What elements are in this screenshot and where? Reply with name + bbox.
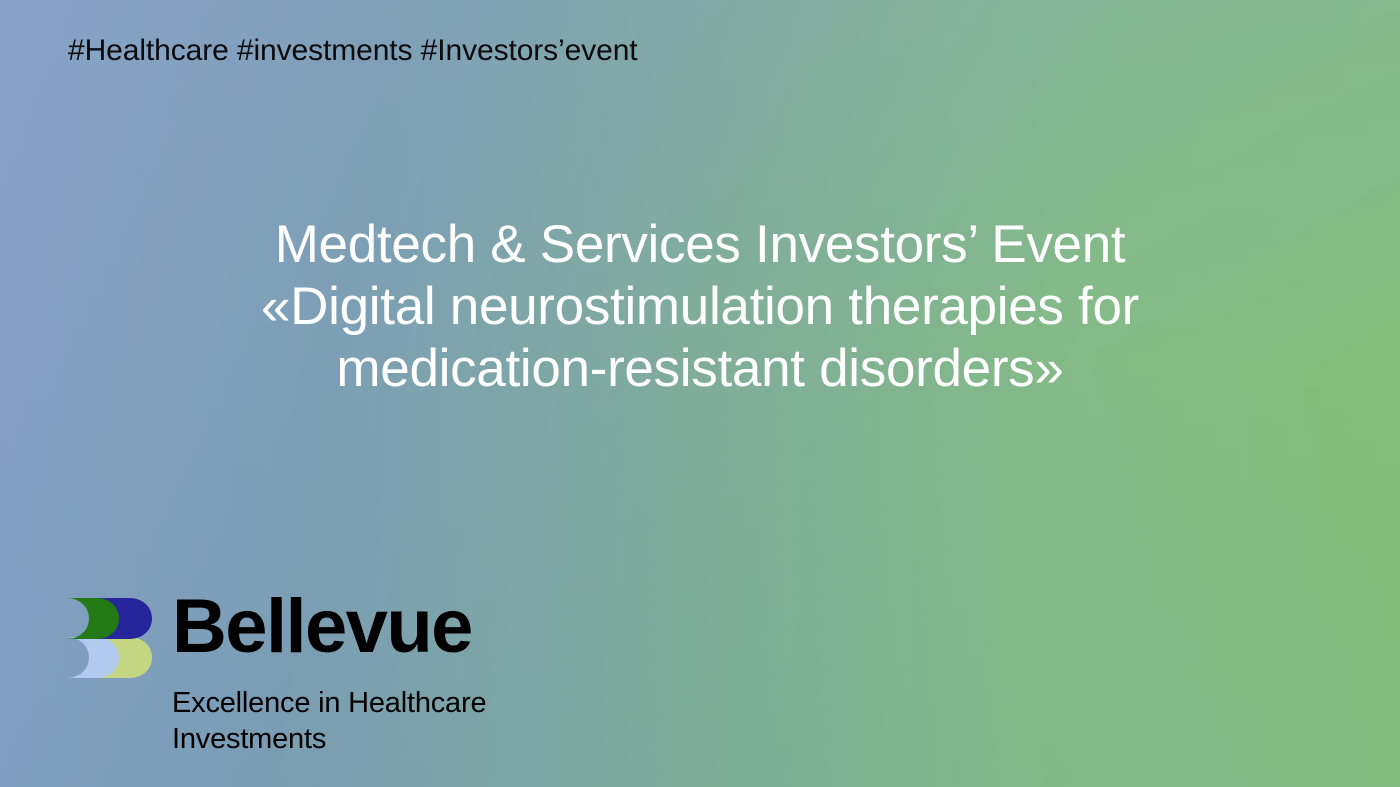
leaf-top-right-icon <box>96 598 152 639</box>
hashtag-line: #Healthcare #investments #Investors’even… <box>68 33 638 69</box>
logo-wordmark: Bellevue <box>172 589 472 665</box>
bellevue-mark-icon <box>66 598 152 678</box>
bellevue-logo: Bellevue Excellence in Healthcare Invest… <box>66 595 586 757</box>
logo-tagline: Excellence in Healthcare Investments <box>172 685 586 757</box>
title-line-1: Medtech & Services Investors’ Event <box>90 214 1310 276</box>
leaf-bottom-right-icon <box>96 637 152 678</box>
title-line-2: «Digital neurostimulation therapies for <box>90 276 1310 338</box>
logo-tagline-line-1: Excellence in Healthcare <box>172 685 586 721</box>
slide-canvas: #Healthcare #investments #Investors’even… <box>0 0 1400 787</box>
event-title-block: Medtech & Services Investors’ Event «Dig… <box>0 214 1400 400</box>
logo-primary-row: Bellevue <box>66 595 586 679</box>
title-line-3: medication-resistant disorders» <box>90 338 1310 400</box>
logo-tagline-line-2: Investments <box>172 721 586 757</box>
